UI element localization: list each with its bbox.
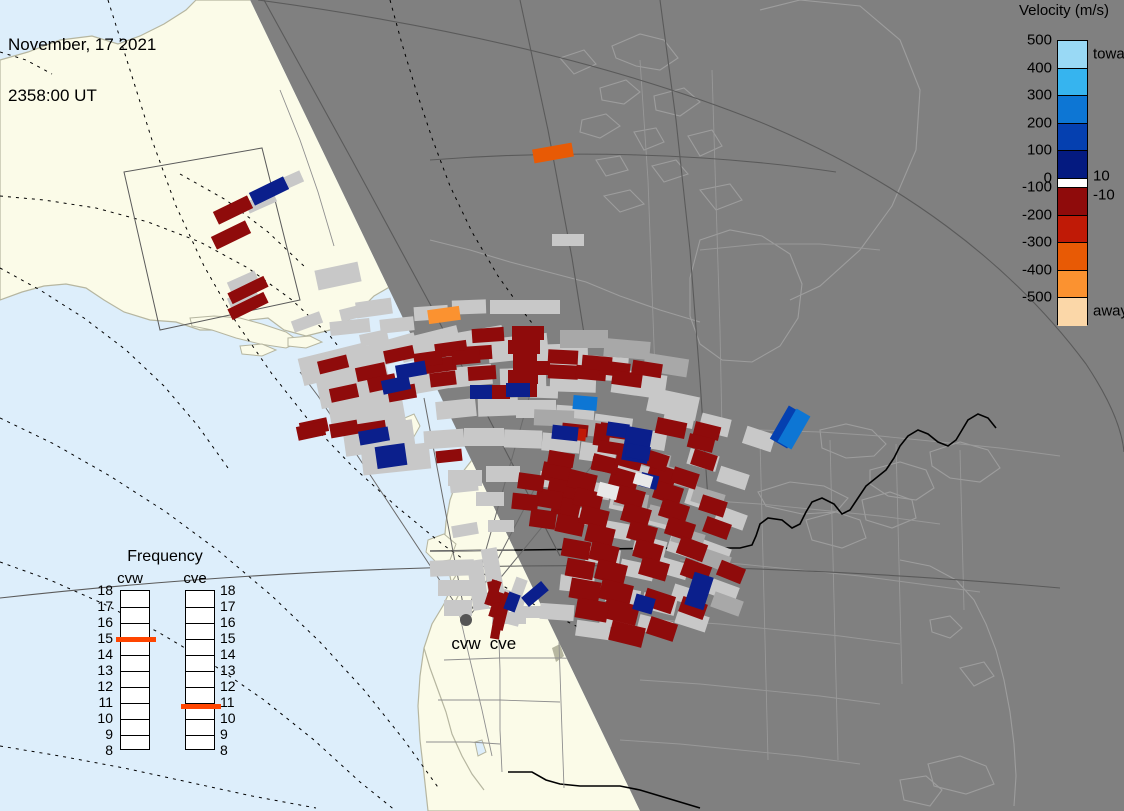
colorbar-segment	[1058, 271, 1087, 299]
frequency-tick-label: 17	[220, 598, 246, 614]
colorbar-tick-label: -500	[1022, 289, 1052, 306]
frequency-tick-label: 15	[220, 630, 246, 646]
colorbar-zero-upper-label: 10	[1093, 168, 1110, 185]
colorbar-away-label: away	[1093, 303, 1124, 320]
frequency-gridline	[121, 735, 149, 736]
frequency-gridline	[186, 671, 214, 672]
frequency-gridline	[186, 607, 214, 608]
colorbar-strip	[1057, 40, 1088, 325]
colorbar-segment	[1058, 124, 1087, 152]
frequency-gridline	[121, 655, 149, 656]
colorbar-tick-label: -100	[1022, 179, 1052, 196]
frequency-marker-cvw	[116, 637, 156, 642]
frequency-legend: Frequency cvw 18171615141312111098 cve 1…	[95, 548, 235, 788]
frequency-gridline	[121, 687, 149, 688]
frequency-tick-label: 12	[87, 678, 113, 694]
frequency-tick-label: 16	[220, 614, 246, 630]
frequency-gridline	[121, 623, 149, 624]
colorbar-segment	[1058, 243, 1087, 271]
colorbar-segment	[1058, 151, 1087, 179]
timestamp-block: November, 17 2021 2358:00 UT	[8, 2, 156, 138]
frequency-tick-label: 17	[87, 598, 113, 614]
frequency-legend-title: Frequency	[95, 548, 235, 566]
frequency-scale-cvw	[120, 590, 150, 750]
frequency-gridline	[186, 735, 214, 736]
colorbar-segment	[1058, 179, 1087, 188]
frequency-tick-label: 11	[87, 694, 113, 710]
colorbar-title: Velocity (m/s)	[1004, 2, 1124, 19]
frequency-scale-cve	[185, 590, 215, 750]
frequency-tick-label: 12	[220, 678, 246, 694]
frequency-tick-label: 18	[220, 582, 246, 598]
frequency-tick-label: 18	[87, 582, 113, 598]
colorbar-zero-lower-label: -10	[1093, 187, 1115, 204]
frequency-tick-label: 10	[87, 710, 113, 726]
colorbar-toward-label: toward	[1093, 46, 1124, 63]
frequency-gridline	[186, 639, 214, 640]
frequency-column-cvw-label: cvw	[110, 570, 150, 587]
colorbar-tick-label: 200	[1027, 114, 1052, 131]
frequency-column-cve-label: cve	[175, 570, 215, 587]
superdarn-fan-plot: cvw cve November, 17 2021 2358:00 UT Vel…	[0, 0, 1124, 811]
colorbar-segment	[1058, 298, 1087, 326]
frequency-gridline	[186, 623, 214, 624]
frequency-gridline	[186, 655, 214, 656]
colorbar-segment	[1058, 188, 1087, 216]
radar-label-cvw: cvw	[451, 634, 481, 653]
frequency-tick-label: 15	[87, 630, 113, 646]
time-label: 2358:00 UT	[8, 87, 156, 104]
colorbar-segment	[1058, 41, 1087, 69]
date-label: November, 17 2021	[8, 36, 156, 53]
colorbar-tick-label: 500	[1027, 32, 1052, 49]
colorbar-tick-label: 300	[1027, 87, 1052, 104]
frequency-tick-label: 11	[220, 694, 246, 710]
frequency-tick-label: 13	[220, 662, 246, 678]
frequency-tick-label: 10	[220, 710, 246, 726]
frequency-gridline	[121, 671, 149, 672]
frequency-gridline	[121, 703, 149, 704]
radar-site-marker	[460, 614, 472, 626]
frequency-gridline	[186, 719, 214, 720]
frequency-marker-cve	[181, 704, 221, 709]
frequency-tick-label: 16	[87, 614, 113, 630]
colorbar-segment	[1058, 96, 1087, 124]
colorbar-tick-label: -300	[1022, 234, 1052, 251]
frequency-tick-label: 13	[87, 662, 113, 678]
frequency-gridline	[186, 687, 214, 688]
frequency-tick-label: 9	[87, 726, 113, 742]
colorbar-tick-label: -200	[1022, 206, 1052, 223]
colorbar-tick-label: -400	[1022, 261, 1052, 278]
colorbar-segment	[1058, 69, 1087, 97]
colorbar-segment	[1058, 216, 1087, 244]
velocity-colorbar: Velocity (m/s) 5004003002001000-100-200-…	[1010, 0, 1124, 340]
frequency-tick-label: 14	[87, 646, 113, 662]
frequency-tick-label: 8	[220, 742, 246, 758]
frequency-tick-label: 9	[220, 726, 246, 742]
frequency-gridline	[121, 607, 149, 608]
colorbar-tick-label: 100	[1027, 142, 1052, 159]
frequency-tick-label: 14	[220, 646, 246, 662]
frequency-tick-label: 8	[87, 742, 113, 758]
colorbar-tick-label: 400	[1027, 59, 1052, 76]
frequency-gridline	[121, 719, 149, 720]
radar-label-cve: cve	[490, 634, 516, 653]
